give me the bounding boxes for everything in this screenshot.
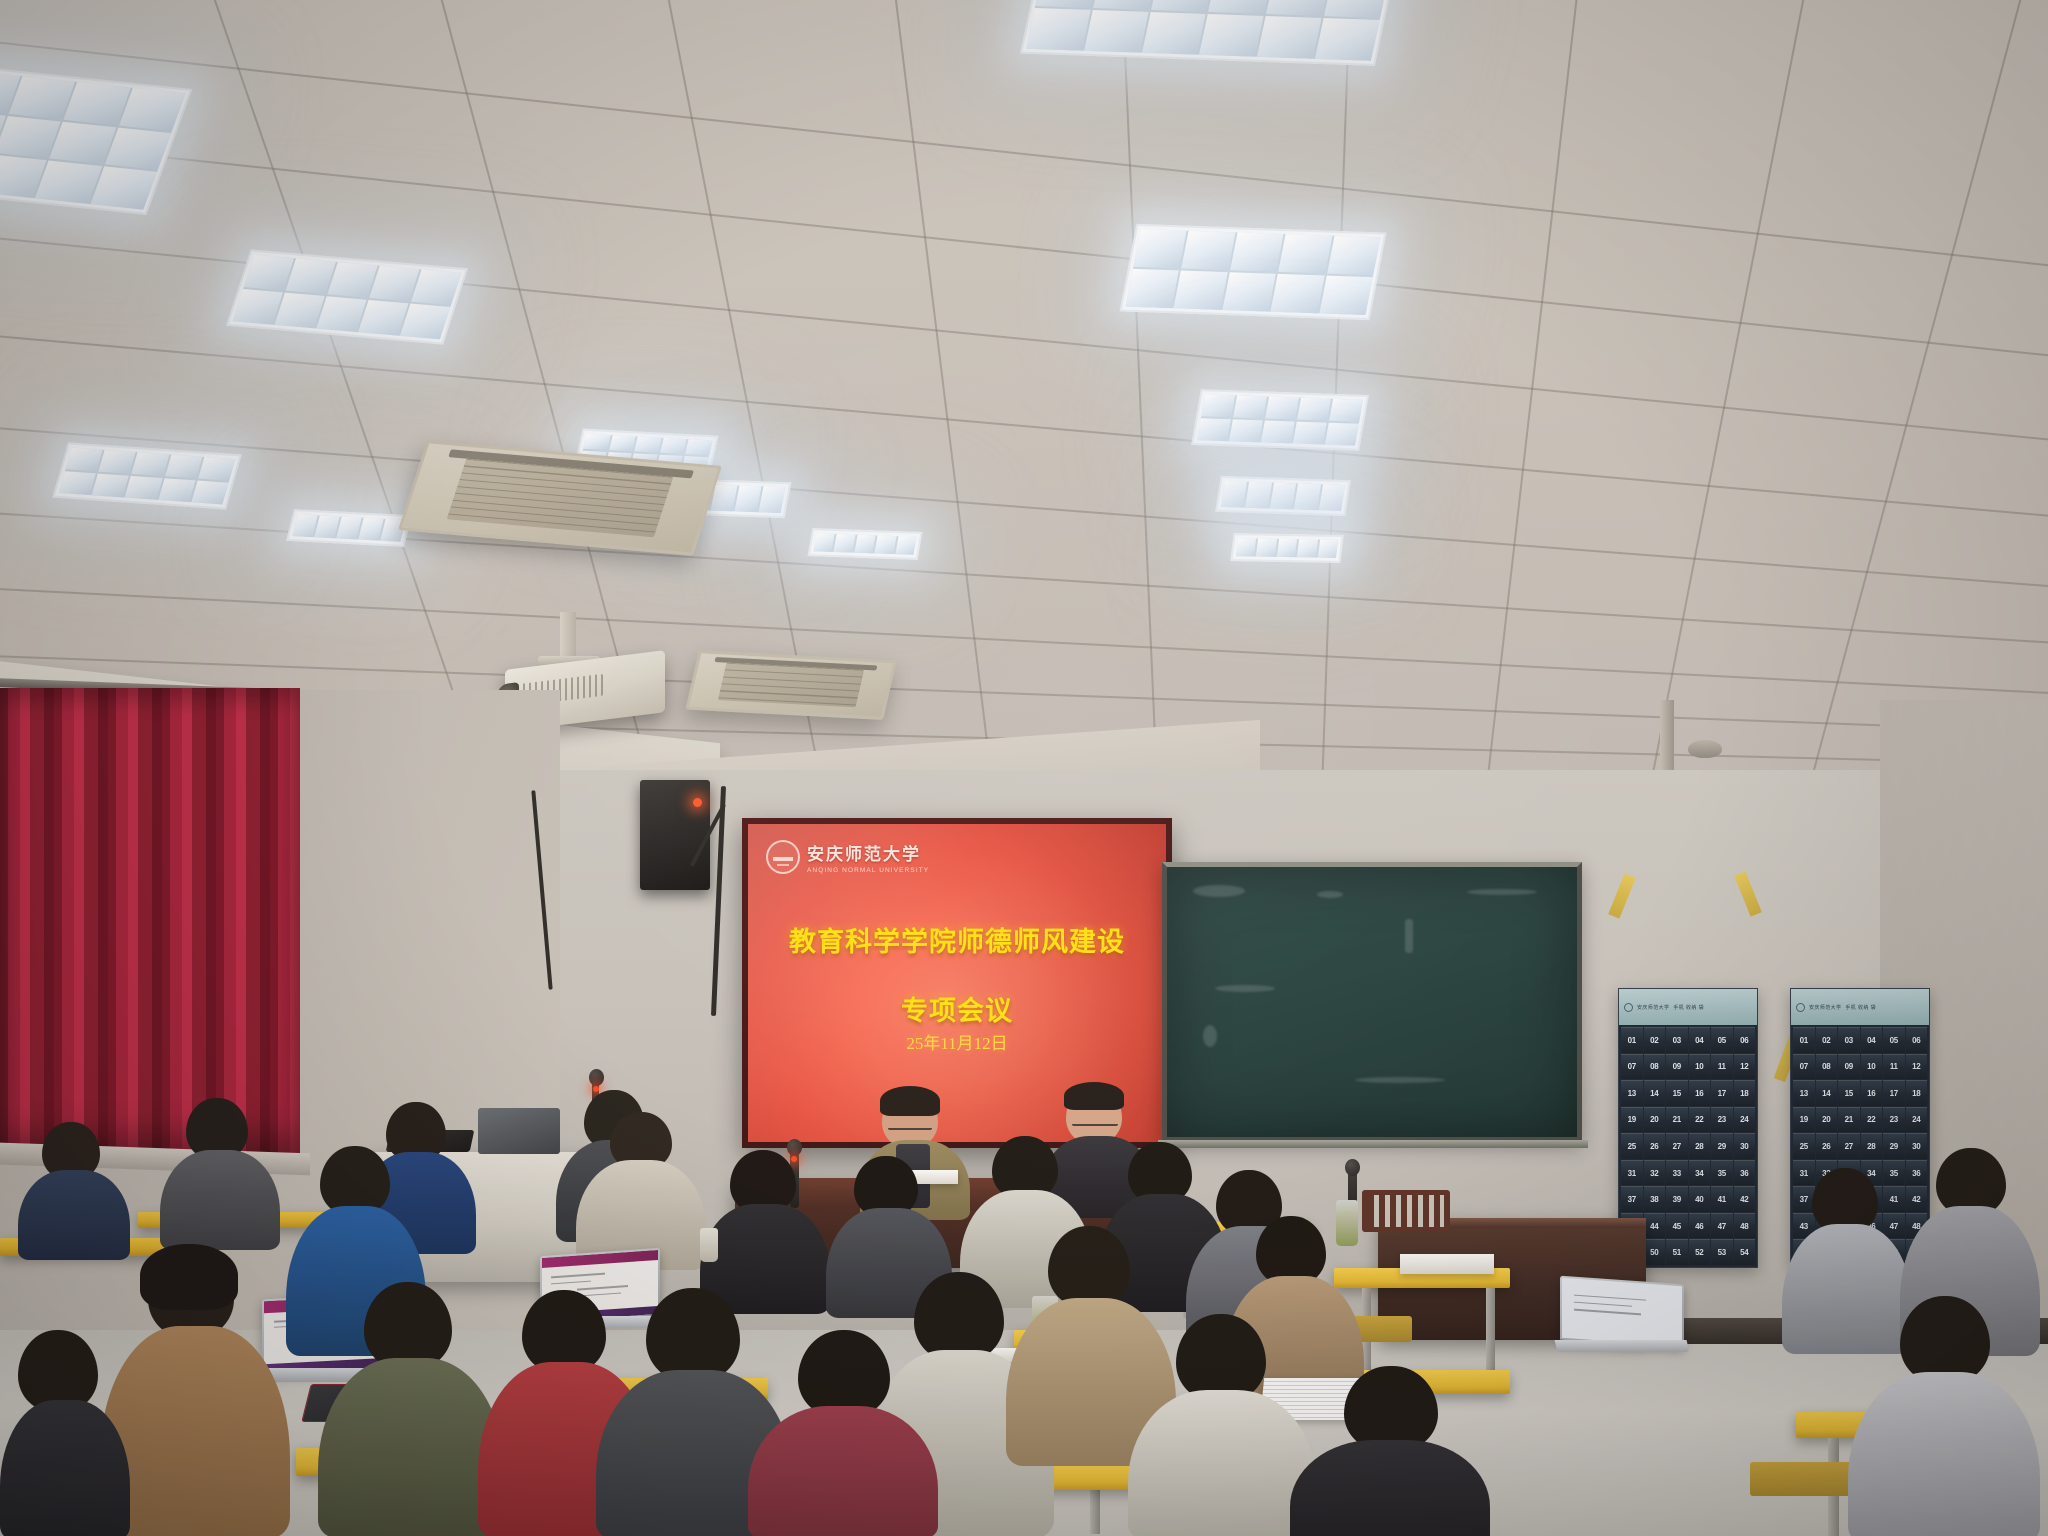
pocket-slot: 34 [1689,1160,1711,1186]
lecture-room-photo: 安庆师范大学 ANQING NORMAL UNIVERSITY 教育科学学院师德… [0,0,2048,1536]
pocket-slot: 14 [1644,1080,1666,1106]
smoke-detector-icon [1688,740,1722,758]
pocket-slot: 18 [1906,1080,1928,1106]
pocket-slot: 40 [1689,1186,1711,1212]
pocket-slot: 13 [1621,1080,1643,1106]
wall-speaker [640,780,710,890]
audience-member [1290,1366,1490,1536]
pocket-slot: 50 [1644,1239,1666,1265]
pocket-slot: 28 [1861,1133,1883,1159]
wooden-chair [1362,1190,1450,1232]
pocket-slot: 20 [1644,1107,1666,1133]
pocket-slot: 19 [1621,1107,1643,1133]
pocket-slot: 20 [1816,1107,1838,1133]
pocket-slot: 24 [1906,1107,1928,1133]
university-crest-icon [766,840,800,874]
pocket-slot: 16 [1689,1080,1711,1106]
audience-member [700,1150,830,1300]
ceiling-light-panel [1120,224,1387,320]
pocket-chart-label: 安庆师范大学 [1637,1004,1669,1011]
slide-title-line1: 教育科学学院师德师风建设 [748,920,1166,959]
pocket-chart-header: 安庆师范大学 手机 收纳 袋 [1619,989,1757,1025]
audience-member [18,1122,130,1250]
pocket-chart-header: 安庆师范大学 手机 收纳 袋 [1791,989,1929,1025]
ceiling-light-panel [226,249,468,344]
ceiling-light-panel [808,528,923,560]
pocket-slot: 11 [1711,1054,1733,1080]
audience-member [0,1330,130,1536]
audience-member [748,1330,938,1536]
pocket-slot: 03 [1666,1027,1688,1053]
pocket-slot: 41 [1711,1186,1733,1212]
pocket-slot: 31 [1621,1160,1643,1186]
notebook [1400,1254,1494,1274]
projector-mount [560,612,576,666]
pocket-slot: 06 [1906,1027,1928,1053]
ceiling-light-panel [1191,389,1369,451]
speaker-led-icon [693,798,702,807]
pocket-slot: 26 [1816,1133,1838,1159]
pocket-slot: 11 [1883,1054,1905,1080]
ceiling-light-panel [1215,476,1351,516]
pocket-slot: 53 [1711,1239,1733,1265]
slide-title-line2: 专项会议 [748,989,1166,1028]
pocket-slot: 45 [1666,1213,1688,1239]
pocket-chart-logo-icon [1796,1003,1805,1012]
audience-member [1848,1296,2040,1536]
microphone-head-icon [589,1069,604,1086]
pocket-slot: 48 [1734,1213,1756,1239]
pocket-slot: 15 [1666,1080,1688,1106]
pocket-slot: 19 [1793,1107,1815,1133]
audience-member [160,1098,280,1238]
pocket-slot: 10 [1689,1054,1711,1080]
pocket-chart-label: 安庆师范大学 [1809,1004,1841,1011]
pocket-slot: 17 [1883,1080,1905,1106]
audience-member [576,1112,706,1262]
pocket-slot: 06 [1734,1027,1756,1053]
pocket-slot: 38 [1644,1186,1666,1212]
pocket-slot: 24 [1734,1107,1756,1133]
pocket-slot: 28 [1689,1133,1711,1159]
pocket-slot: 04 [1689,1027,1711,1053]
pocket-chart-note: 手机 收纳 袋 [1673,1004,1704,1011]
pocket-slot: 42 [1734,1186,1756,1212]
pocket-slot: 18 [1734,1080,1756,1106]
pocket-slot: 36 [1734,1160,1756,1186]
pocket-slot: 02 [1816,1027,1838,1053]
ceiling-light-panel [52,442,241,509]
pocket-slot: 27 [1838,1133,1860,1159]
pocket-slot: 23 [1711,1107,1733,1133]
pocket-slot: 22 [1861,1107,1883,1133]
pocket-slot: 15 [1838,1080,1860,1106]
pocket-slot: 04 [1861,1027,1883,1053]
pocket-slot: 05 [1711,1027,1733,1053]
window-curtains [0,688,300,1158]
university-name-cn: 安庆师范大学 [807,840,929,865]
pocket-chart-logo-icon [1624,1003,1633,1012]
ceiling-light-panel [1020,0,1395,66]
blackboard [1162,862,1582,1142]
audience-member [318,1282,504,1536]
pocket-slot: 54 [1734,1239,1756,1265]
pocket-slot: 22 [1689,1107,1711,1133]
laptop [1560,1280,1690,1366]
pocket-slot: 23 [1883,1107,1905,1133]
pocket-slot: 35 [1711,1160,1733,1186]
air-conditioner-unit [685,650,896,720]
pocket-slot: 32 [1644,1160,1666,1186]
pocket-slot: 05 [1883,1027,1905,1053]
pocket-slot: 30 [1734,1133,1756,1159]
ceiling-light-panel [0,65,192,215]
water-bottle [700,1228,718,1262]
laptop-screen [1562,1278,1682,1346]
pocket-slot: 13 [1793,1080,1815,1106]
pocket-slot: 51 [1666,1239,1688,1265]
pocket-slot: 12 [1734,1054,1756,1080]
pocket-slot: 02 [1644,1027,1666,1053]
pocket-slot: 52 [1689,1239,1711,1265]
pocket-slot: 44 [1644,1213,1666,1239]
pocket-slot: 12 [1906,1054,1928,1080]
pocket-slot: 46 [1689,1213,1711,1239]
slide-date: 25年11月12日 [748,1029,1166,1054]
university-name-en: ANQING NORMAL UNIVERSITY [807,867,929,874]
pocket-slot: 26 [1644,1133,1666,1159]
audience-member [1128,1314,1316,1536]
podium-monitor [478,1108,560,1154]
pocket-slot: 01 [1793,1027,1815,1053]
suspended-ceiling [0,0,2048,800]
pocket-slot: 25 [1621,1133,1643,1159]
slide-title: 教育科学学院师德师风建设 专项会议 [748,920,1166,1028]
pocket-slot: 17 [1711,1080,1733,1106]
pocket-chart-note: 手机 收纳 袋 [1845,1004,1876,1011]
pocket-slot: 01 [1621,1027,1643,1053]
pocket-slot: 21 [1666,1107,1688,1133]
pocket-slot: 07 [1793,1054,1815,1080]
pocket-slot: 03 [1838,1027,1860,1053]
pocket-slot: 09 [1666,1054,1688,1080]
microphone-head-icon [1345,1159,1360,1176]
pocket-slot: 07 [1621,1054,1643,1080]
pocket-slot: 33 [1666,1160,1688,1186]
pocket-slot: 09 [1838,1054,1860,1080]
pocket-slot: 08 [1644,1054,1666,1080]
pocket-slot: 10 [1861,1054,1883,1080]
pocket-slot: 16 [1861,1080,1883,1106]
pocket-slot: 47 [1711,1213,1733,1239]
university-logo: 安庆师范大学 ANQING NORMAL UNIVERSITY [766,840,929,874]
pocket-slot: 25 [1793,1133,1815,1159]
ceiling-light-panel [1230,533,1343,563]
pocket-slot: 37 [1621,1186,1643,1212]
pocket-slot: 39 [1666,1186,1688,1212]
pocket-slot: 27 [1666,1133,1688,1159]
pocket-slot: 14 [1816,1080,1838,1106]
ceiling-light-panel [286,509,412,547]
pocket-slot: 29 [1711,1133,1733,1159]
pocket-slot: 21 [1838,1107,1860,1133]
pocket-slot: 08 [1816,1054,1838,1080]
